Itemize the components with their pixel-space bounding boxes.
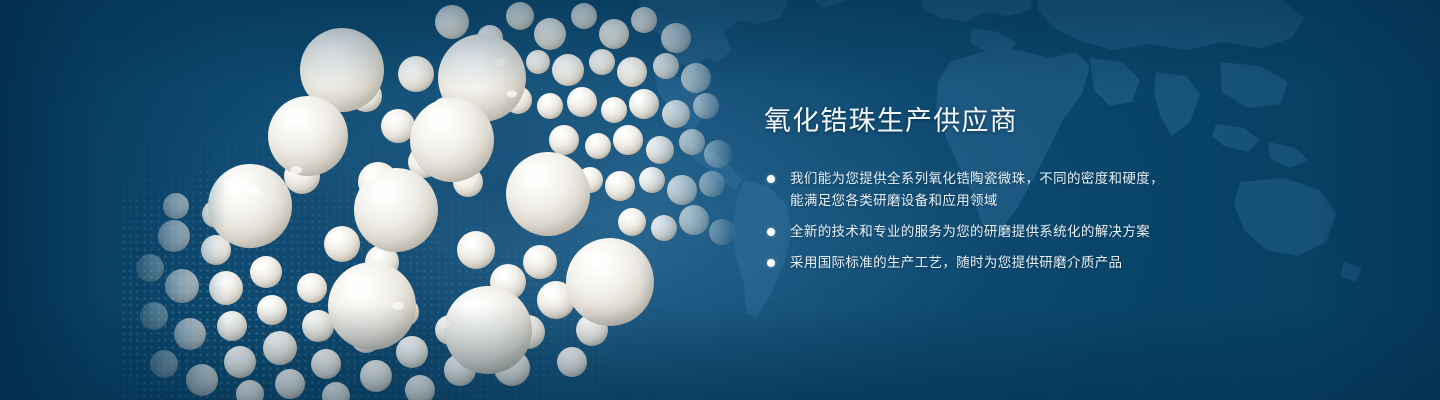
hero-banner: 氧化锆珠生产供应商 我们能为您提供全系列氧化锆陶瓷微珠，不同的密度和硬度， 能满… (0, 0, 1440, 400)
background-vignette (0, 0, 1440, 400)
